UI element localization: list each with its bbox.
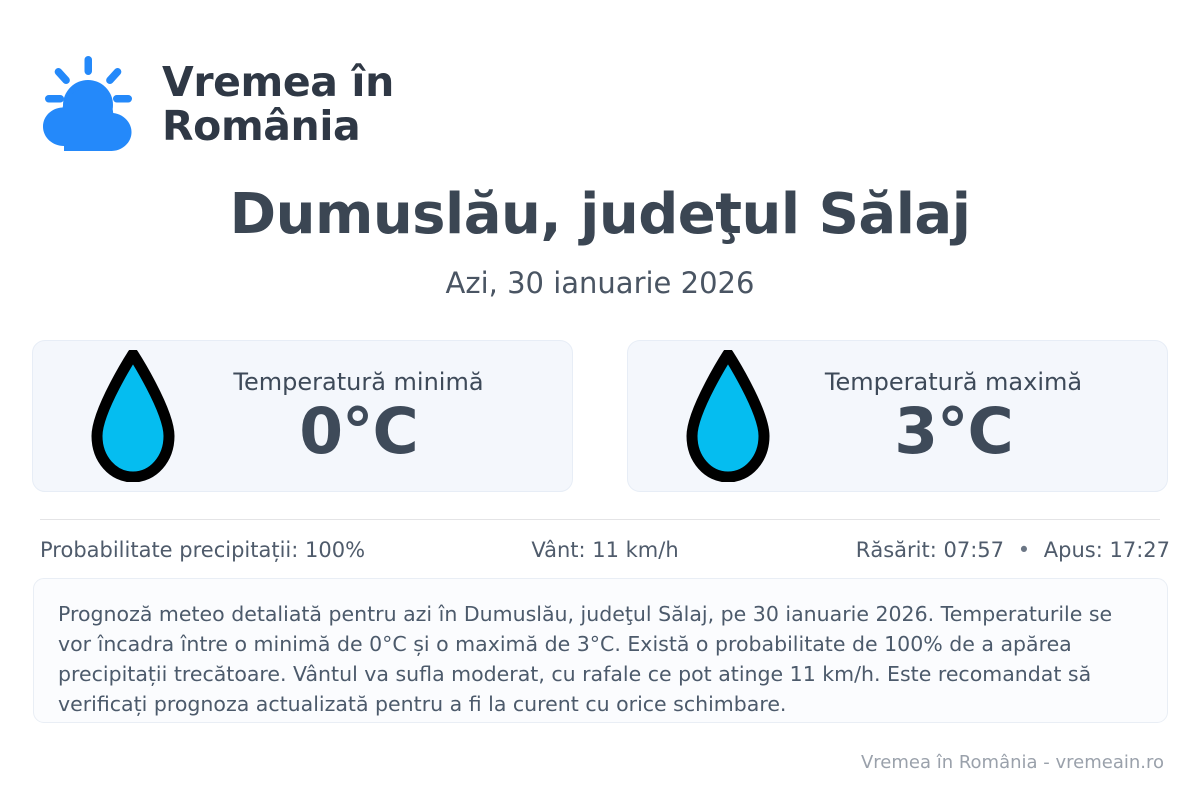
brand-header[interactable]: Vremea în România: [36, 52, 394, 156]
forecast-description-text: Prognoză meteo detaliată pentru azi în D…: [58, 599, 1143, 720]
sunrise-value: Răsărit: 07:57: [856, 538, 1004, 562]
section-divider: [40, 519, 1160, 520]
temperature-max-label: Temperatură maximă: [776, 367, 1131, 397]
temperature-min-value: 0°C: [181, 399, 536, 465]
temperature-max-value: 3°C: [776, 399, 1131, 465]
sunset-value: Apus: 17:27: [1044, 538, 1170, 562]
brand-name: Vremea în România: [162, 60, 394, 149]
sun-times-stat: Răsărit: 07:57 • Apus: 17:27: [793, 538, 1170, 562]
stat-separator: •: [1011, 538, 1037, 562]
temperature-max-card: Temperatură maximă 3°C: [627, 340, 1168, 492]
temperature-min-label: Temperatură minimă: [181, 367, 536, 397]
weather-stats-row: Probabilitate precipitații: 100% Vânt: 1…: [40, 538, 1170, 562]
sun-cloud-icon: [36, 52, 140, 156]
weather-forecast-page: Vremea în România Dumuslău, judeţul Săla…: [0, 0, 1200, 800]
page-subtitle: Azi, 30 ianuarie 2026: [0, 266, 1200, 300]
footer-credit: Vremea în România - vremeain.ro: [861, 752, 1164, 773]
water-drop-icon: [686, 350, 770, 482]
page-title: Dumuslău, judeţul Sălaj: [0, 182, 1200, 247]
precipitation-stat: Probabilitate precipitații: 100%: [40, 538, 417, 562]
temperature-cards: Temperatură minimă 0°C Temperatură maxim…: [32, 340, 1168, 492]
temperature-min-card: Temperatură minimă 0°C: [32, 340, 573, 492]
forecast-description-panel: Prognoză meteo detaliată pentru azi în D…: [33, 578, 1168, 723]
water-drop-icon: [91, 350, 175, 482]
wind-stat: Vânt: 11 km/h: [417, 538, 794, 562]
